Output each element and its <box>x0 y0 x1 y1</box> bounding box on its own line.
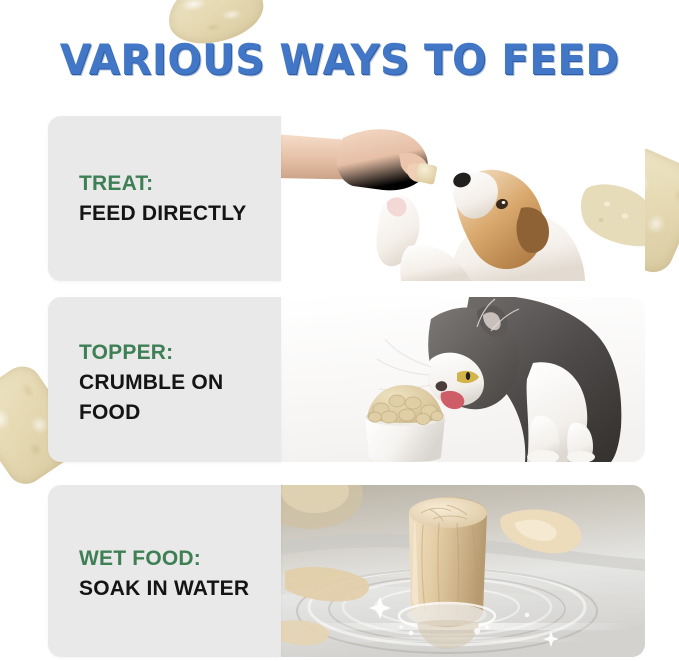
method-label: TREAT: <box>79 169 279 199</box>
feeding-method-row-wet-food: WET FOOD: SOAK IN WATER <box>48 485 645 657</box>
feeding-method-card-treat: TREAT: FEED DIRECTLY <box>48 116 281 281</box>
cat-eating-from-bowl-photo <box>281 297 645 462</box>
card-text-block: TREAT: FEED DIRECTLY <box>79 169 279 229</box>
treat-soaking-in-water-photo <box>281 485 645 657</box>
method-description: FEED DIRECTLY <box>79 199 279 229</box>
method-label: WET FOOD: <box>79 544 279 574</box>
method-description: SOAK IN WATER <box>79 574 279 604</box>
page-title: VARIOUS WAYS TO FEED <box>14 34 666 86</box>
feeding-method-row-treat: TREAT: FEED DIRECTLY <box>48 116 645 281</box>
feeding-method-row-topper: TOPPER: CRUMBLE ON FOOD <box>48 297 645 462</box>
card-text-block: WET FOOD: SOAK IN WATER <box>79 544 279 604</box>
feeding-method-card-wet-food: WET FOOD: SOAK IN WATER <box>48 485 281 657</box>
card-text-block: TOPPER: CRUMBLE ON FOOD <box>79 338 279 428</box>
method-label: TOPPER: <box>79 338 279 368</box>
feeding-method-card-topper: TOPPER: CRUMBLE ON FOOD <box>48 297 281 462</box>
method-description: CRUMBLE ON FOOD <box>79 368 279 428</box>
hand-feeding-treat-to-dog-photo <box>281 116 645 281</box>
